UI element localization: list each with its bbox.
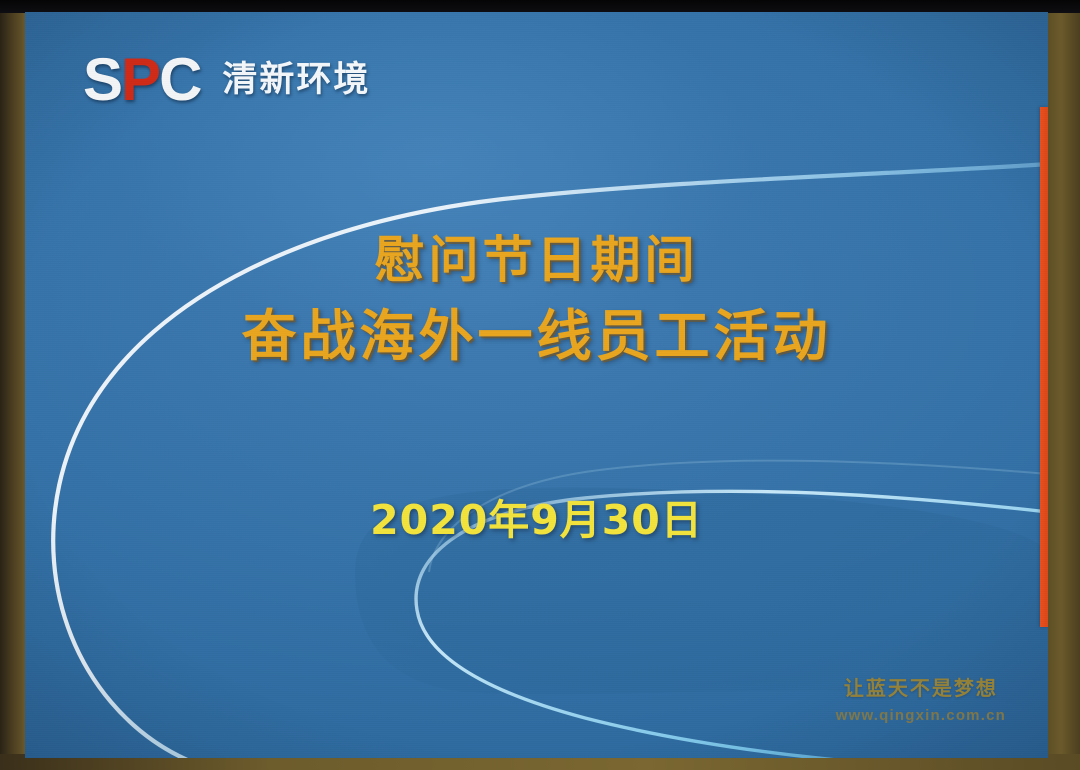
logo-wordmark: 清新环境	[222, 63, 370, 98]
footer-url: www.qingxin.com.cn	[836, 707, 1006, 724]
projector-glow	[25, 12, 1048, 758]
projector-scanlines	[25, 12, 1048, 758]
logo-letter-p: P	[121, 46, 159, 113]
title-line-1: 慰问节日期间	[25, 230, 1048, 291]
logo-letter-s: S	[83, 46, 121, 113]
slide-date: 2020年9月30日	[25, 486, 1048, 546]
slide-decoration-artwork	[25, 12, 1048, 758]
slide-footer: 让蓝天不是梦想 www.qingxin.com.cn	[836, 676, 1006, 724]
projection-photo-frame: SPC 清新环境 慰问节日期间 奋战海外一线员工活动 2020年9月30日 让蓝…	[0, 0, 1080, 770]
footer-slogan: 让蓝天不是梦想	[836, 676, 1006, 701]
slide-title: 慰问节日期间 奋战海外一线员工活动	[25, 230, 1048, 370]
title-line-2: 奋战海外一线员工活动	[25, 303, 1048, 370]
wall-left-border	[0, 0, 27, 770]
spc-logo-mark: SPC	[83, 50, 200, 110]
presentation-slide: SPC 清新环境 慰问节日期间 奋战海外一线员工活动 2020年9月30日 让蓝…	[25, 12, 1048, 758]
projector-vignette	[25, 12, 1048, 758]
logo-letter-c: C	[159, 46, 200, 113]
company-logo: SPC 清新环境	[83, 50, 370, 110]
wall-right-border	[1048, 10, 1080, 770]
